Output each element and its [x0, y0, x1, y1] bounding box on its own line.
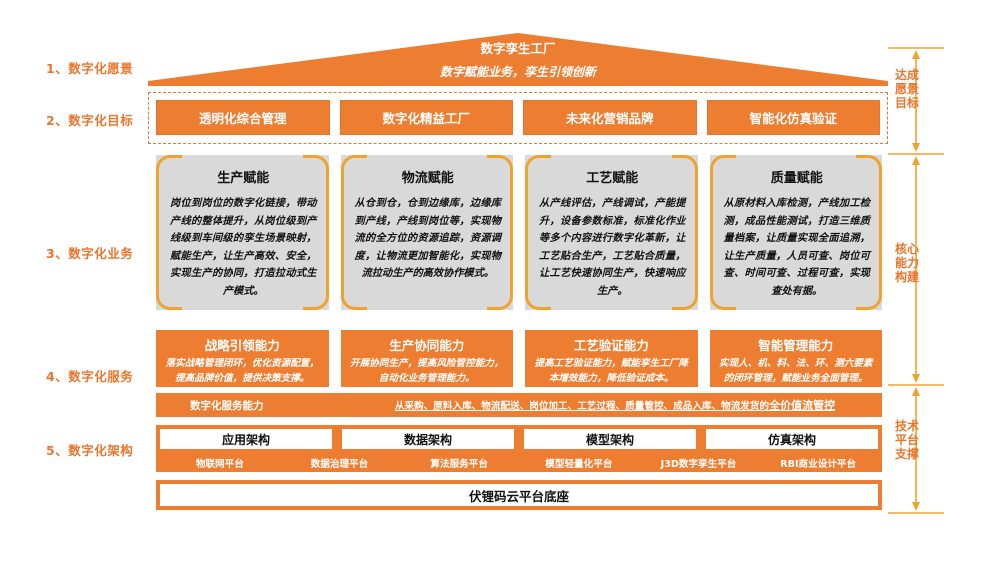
card-title: 生产赋能: [170, 167, 317, 186]
architecture-box-row: 应用架构 数据架构 模型架构 仿真架构: [160, 429, 878, 449]
side-label-core-capability: 核心能力构建: [890, 242, 924, 284]
card-body: 岗位到岗位的数字化链接，带动产线的整体提升，从岗位级到产线级到车间级的孪生场景映…: [170, 195, 317, 300]
platform-label-iot: 物联网平台: [160, 453, 280, 472]
service-box-desc: 实现人、机、料、法、环、测六要素的闭环管理，赋能业务全面管理。: [716, 357, 877, 387]
card-title: 物流赋能: [355, 167, 502, 186]
service-capability-band: 数字化服务能力 从采购、原料入库、物流配送、岗位加工、工艺过程、质量管控、成品入…: [156, 393, 882, 417]
goal-box-1[interactable]: 透明化综合管理: [156, 100, 330, 135]
row-label-architecture: 5、数字化架构: [46, 440, 166, 459]
vision-title: 数字孪生工厂: [148, 38, 888, 57]
diagram-canvas: 1、数字化愿景 2、数字化目标 3、数字化业务 4、数字化服务 5、数字化架构 …: [0, 0, 1000, 563]
service-band-text-emphasis: 全价值流管控: [769, 397, 835, 413]
platform-label-governance: 数据治理平台: [280, 453, 400, 472]
architecture-box-simulation[interactable]: 仿真架构: [706, 429, 878, 449]
goal-row: 透明化综合管理 数字化精益工厂 未来化营销品牌 智能化仿真验证: [156, 100, 880, 135]
service-box-title: 智能管理能力: [716, 335, 877, 354]
vision-subtitle: 数字赋能业务，孪生引领创新: [148, 63, 888, 80]
row-label-service: 4、数字化服务: [46, 366, 166, 385]
card-body: 从产线评估，产线调试，产能提升，设备参数标准，标准化作业等多个内容进行数字化革新…: [539, 195, 686, 300]
side-label-vision-goal: 达成愿景目标: [890, 68, 924, 110]
service-band-text-main: 从采购、原料入库、物流配送、岗位加工、工艺过程、质量管控、成品入库、物流发货的: [395, 398, 769, 412]
card-body: 从仓到仓，仓到边缘库，边缘库到产线，产线到岗位等，实现物流的全方位的资源追踪，资…: [355, 195, 502, 283]
card-title: 工艺赋能: [539, 167, 686, 186]
service-box-desc: 开展协同生产，提高风险管控能力，自动化业务管理能力。: [347, 357, 508, 387]
business-card-row: 生产赋能 岗位到岗位的数字化链接，带动产线的整体提升，从岗位级到产线级到车间级的…: [156, 155, 882, 310]
platform-label-row: 物联网平台 数据治理平台 算法服务平台 模型轻量化平台 J3D数字孪生平台 RB…: [160, 453, 878, 472]
platform-label-lightweight: 模型轻量化平台: [519, 453, 639, 472]
platform-label-rbi: RBI商业设计平台: [758, 453, 878, 472]
business-card-process[interactable]: 工艺赋能 从产线评估，产线调试，产能提升，设备参数标准，标准化作业等多个内容进行…: [525, 155, 698, 310]
architecture-box-data[interactable]: 数据架构: [342, 429, 514, 449]
business-card-logistics[interactable]: 物流赋能 从仓到仓，仓到边缘库，边缘库到产线，产线到岗位等，实现物流的全方位的资…: [341, 155, 514, 310]
goal-box-2[interactable]: 数字化精益工厂: [340, 100, 514, 135]
service-band-label: 数字化服务能力: [190, 393, 264, 417]
architecture-box-model[interactable]: 模型架构: [524, 429, 696, 449]
card-title: 质量赋能: [724, 167, 871, 186]
service-box-process-validation[interactable]: 工艺验证能力 提高工艺验证能力，赋能孪生工厂降本增效能力，降低验证成本。: [525, 330, 698, 387]
platform-label-j3d: J3D数字孪生平台: [639, 453, 759, 472]
row-label-business: 3、数字化业务: [46, 243, 166, 262]
architecture-container: 应用架构 数据架构 模型架构 仿真架构 物联网平台 数据治理平台 算法服务平台 …: [156, 425, 882, 472]
base-platform-label: 伏锂码云平台底座: [160, 484, 878, 506]
business-card-quality[interactable]: 质量赋能 从原材料入库检测，产线加工检测，成品性能测试，打造三维质量档案，让质量…: [710, 155, 883, 310]
service-box-smart-management[interactable]: 智能管理能力 实现人、机、料、法、环、测六要素的闭环管理，赋能业务全面管理。: [710, 330, 883, 387]
service-band-text: 从采购、原料入库、物流配送、岗位加工、工艺过程、质量管控、成品入库、物流发货的全…: [356, 393, 874, 417]
card-body: 从原材料入库检测，产线加工检测，成品性能测试，打造三维质量档案，让质量实现全面追…: [724, 195, 871, 300]
service-box-desc: 提高工艺验证能力，赋能孪生工厂降本增效能力，降低验证成本。: [531, 357, 692, 387]
side-label-tech-support: 技术平台支撑: [890, 419, 924, 461]
architecture-box-application[interactable]: 应用架构: [160, 429, 332, 449]
service-box-title: 工艺验证能力: [531, 335, 692, 354]
platform-label-algorithm: 算法服务平台: [399, 453, 519, 472]
side-bracket-group: 达成愿景目标 核心能力构建 技术平台支撑: [884, 30, 954, 530]
goal-box-3[interactable]: 未来化营销品牌: [523, 100, 697, 135]
service-box-strategy[interactable]: 战略引领能力 落实战略管理闭环，优化资源配置，提高品牌价值，提供决策支撑。: [156, 330, 329, 387]
business-card-production[interactable]: 生产赋能 岗位到岗位的数字化链接，带动产线的整体提升，从岗位级到产线级到车间级的…: [156, 155, 329, 310]
service-box-desc: 落实战略管理闭环，优化资源配置，提高品牌价值，提供决策支撑。: [162, 357, 323, 387]
service-box-title: 战略引领能力: [162, 335, 323, 354]
base-platform-container: 伏锂码云平台底座: [156, 480, 882, 510]
service-box-title: 生产协同能力: [347, 335, 508, 354]
service-box-production-collab[interactable]: 生产协同能力 开展协同生产，提高风险管控能力，自动化业务管理能力。: [341, 330, 514, 387]
goal-box-4[interactable]: 智能化仿真验证: [707, 100, 881, 135]
service-capability-row: 战略引领能力 落实战略管理闭环，优化资源配置，提高品牌价值，提供决策支撑。 生产…: [156, 330, 882, 387]
